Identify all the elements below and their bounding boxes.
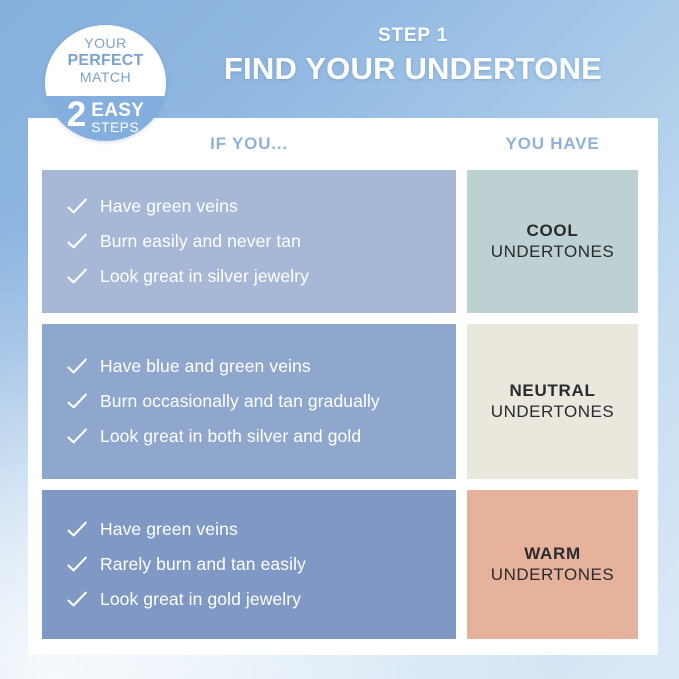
criterion-item: Have green veins (42, 512, 456, 547)
check-icon (66, 519, 88, 541)
content-panel: IF YOU... YOU HAVE Have green veins (28, 118, 658, 655)
undertone-row-cool: Have green veins Burn easily and never t… (42, 170, 652, 313)
badge-line-perfect: PERFECT (67, 52, 143, 70)
column-header-you-have: YOU HAVE (467, 134, 638, 154)
criterion-item: Have blue and green veins (42, 349, 456, 384)
undertone-swatch-cool: COOL UNDERTONES (467, 170, 638, 313)
criterion-item: Burn easily and never tan (42, 224, 456, 259)
undertone-sublabel: UNDERTONES (491, 242, 614, 262)
criterion-item: Look great in silver jewelry (42, 259, 456, 294)
step-label: STEP 1 (176, 26, 650, 47)
badge-step-count: 2 (67, 99, 86, 131)
badge-line-match: MATCH (80, 70, 131, 86)
undertone-name: COOL (527, 221, 579, 241)
check-icon (66, 266, 88, 288)
criterion-item: Look great in gold jewelry (42, 582, 456, 617)
undertone-name: WARM (524, 544, 581, 564)
badge-line-your: YOUR (84, 36, 126, 52)
badge-bottom-half: 2 EASY STEPS (45, 96, 166, 141)
check-icon (66, 231, 88, 253)
criterion-text: Burn occasionally and tan gradually (100, 390, 380, 412)
criterion-text: Look great in gold jewelry (100, 588, 301, 610)
badge-label-steps: STEPS (91, 120, 139, 134)
perfect-match-badge: YOUR PERFECT MATCH 2 EASY STEPS (45, 25, 166, 141)
undertone-rows: Have green veins Burn easily and never t… (42, 170, 652, 639)
criterion-text: Burn easily and never tan (100, 230, 301, 252)
criterion-item: Have green veins (42, 189, 456, 224)
badge-top-half: YOUR PERFECT MATCH (45, 25, 166, 96)
undertone-infographic: IF YOU... YOU HAVE Have green veins (0, 0, 679, 679)
undertone-swatch-neutral: NEUTRAL UNDERTONES (467, 324, 638, 479)
check-icon (66, 196, 88, 218)
undertone-name: NEUTRAL (509, 381, 595, 401)
criteria-card-neutral: Have blue and green veins Burn occasiona… (42, 324, 456, 479)
page-title: FIND YOUR UNDERTONE (176, 52, 650, 85)
badge-label-easy: EASY (91, 101, 144, 120)
criterion-text: Look great in silver jewelry (100, 265, 309, 287)
undertone-sublabel: UNDERTONES (491, 402, 614, 422)
criterion-item: Rarely burn and tan easily (42, 547, 456, 582)
header: STEP 1 FIND YOUR UNDERTONE (176, 26, 650, 85)
criterion-text: Have blue and green veins (100, 355, 311, 377)
criteria-card-cool: Have green veins Burn easily and never t… (42, 170, 456, 313)
criterion-item: Look great in both silver and gold (42, 419, 456, 454)
check-icon (66, 554, 88, 576)
undertone-row-neutral: Have blue and green veins Burn occasiona… (42, 324, 652, 479)
check-icon (66, 589, 88, 611)
undertone-row-warm: Have green veins Rarely burn and tan eas… (42, 490, 652, 639)
check-icon (66, 391, 88, 413)
undertone-sublabel: UNDERTONES (491, 565, 614, 585)
check-icon (66, 356, 88, 378)
undertone-swatch-warm: WARM UNDERTONES (467, 490, 638, 639)
criterion-text: Look great in both silver and gold (100, 425, 361, 447)
check-icon (66, 426, 88, 448)
criterion-text: Have green veins (100, 195, 238, 217)
criterion-text: Have green veins (100, 518, 238, 540)
criteria-card-warm: Have green veins Rarely burn and tan eas… (42, 490, 456, 639)
badge-steps-wrap: EASY STEPS (91, 99, 144, 134)
criterion-item: Burn occasionally and tan gradually (42, 384, 456, 419)
criterion-text: Rarely burn and tan easily (100, 553, 306, 575)
